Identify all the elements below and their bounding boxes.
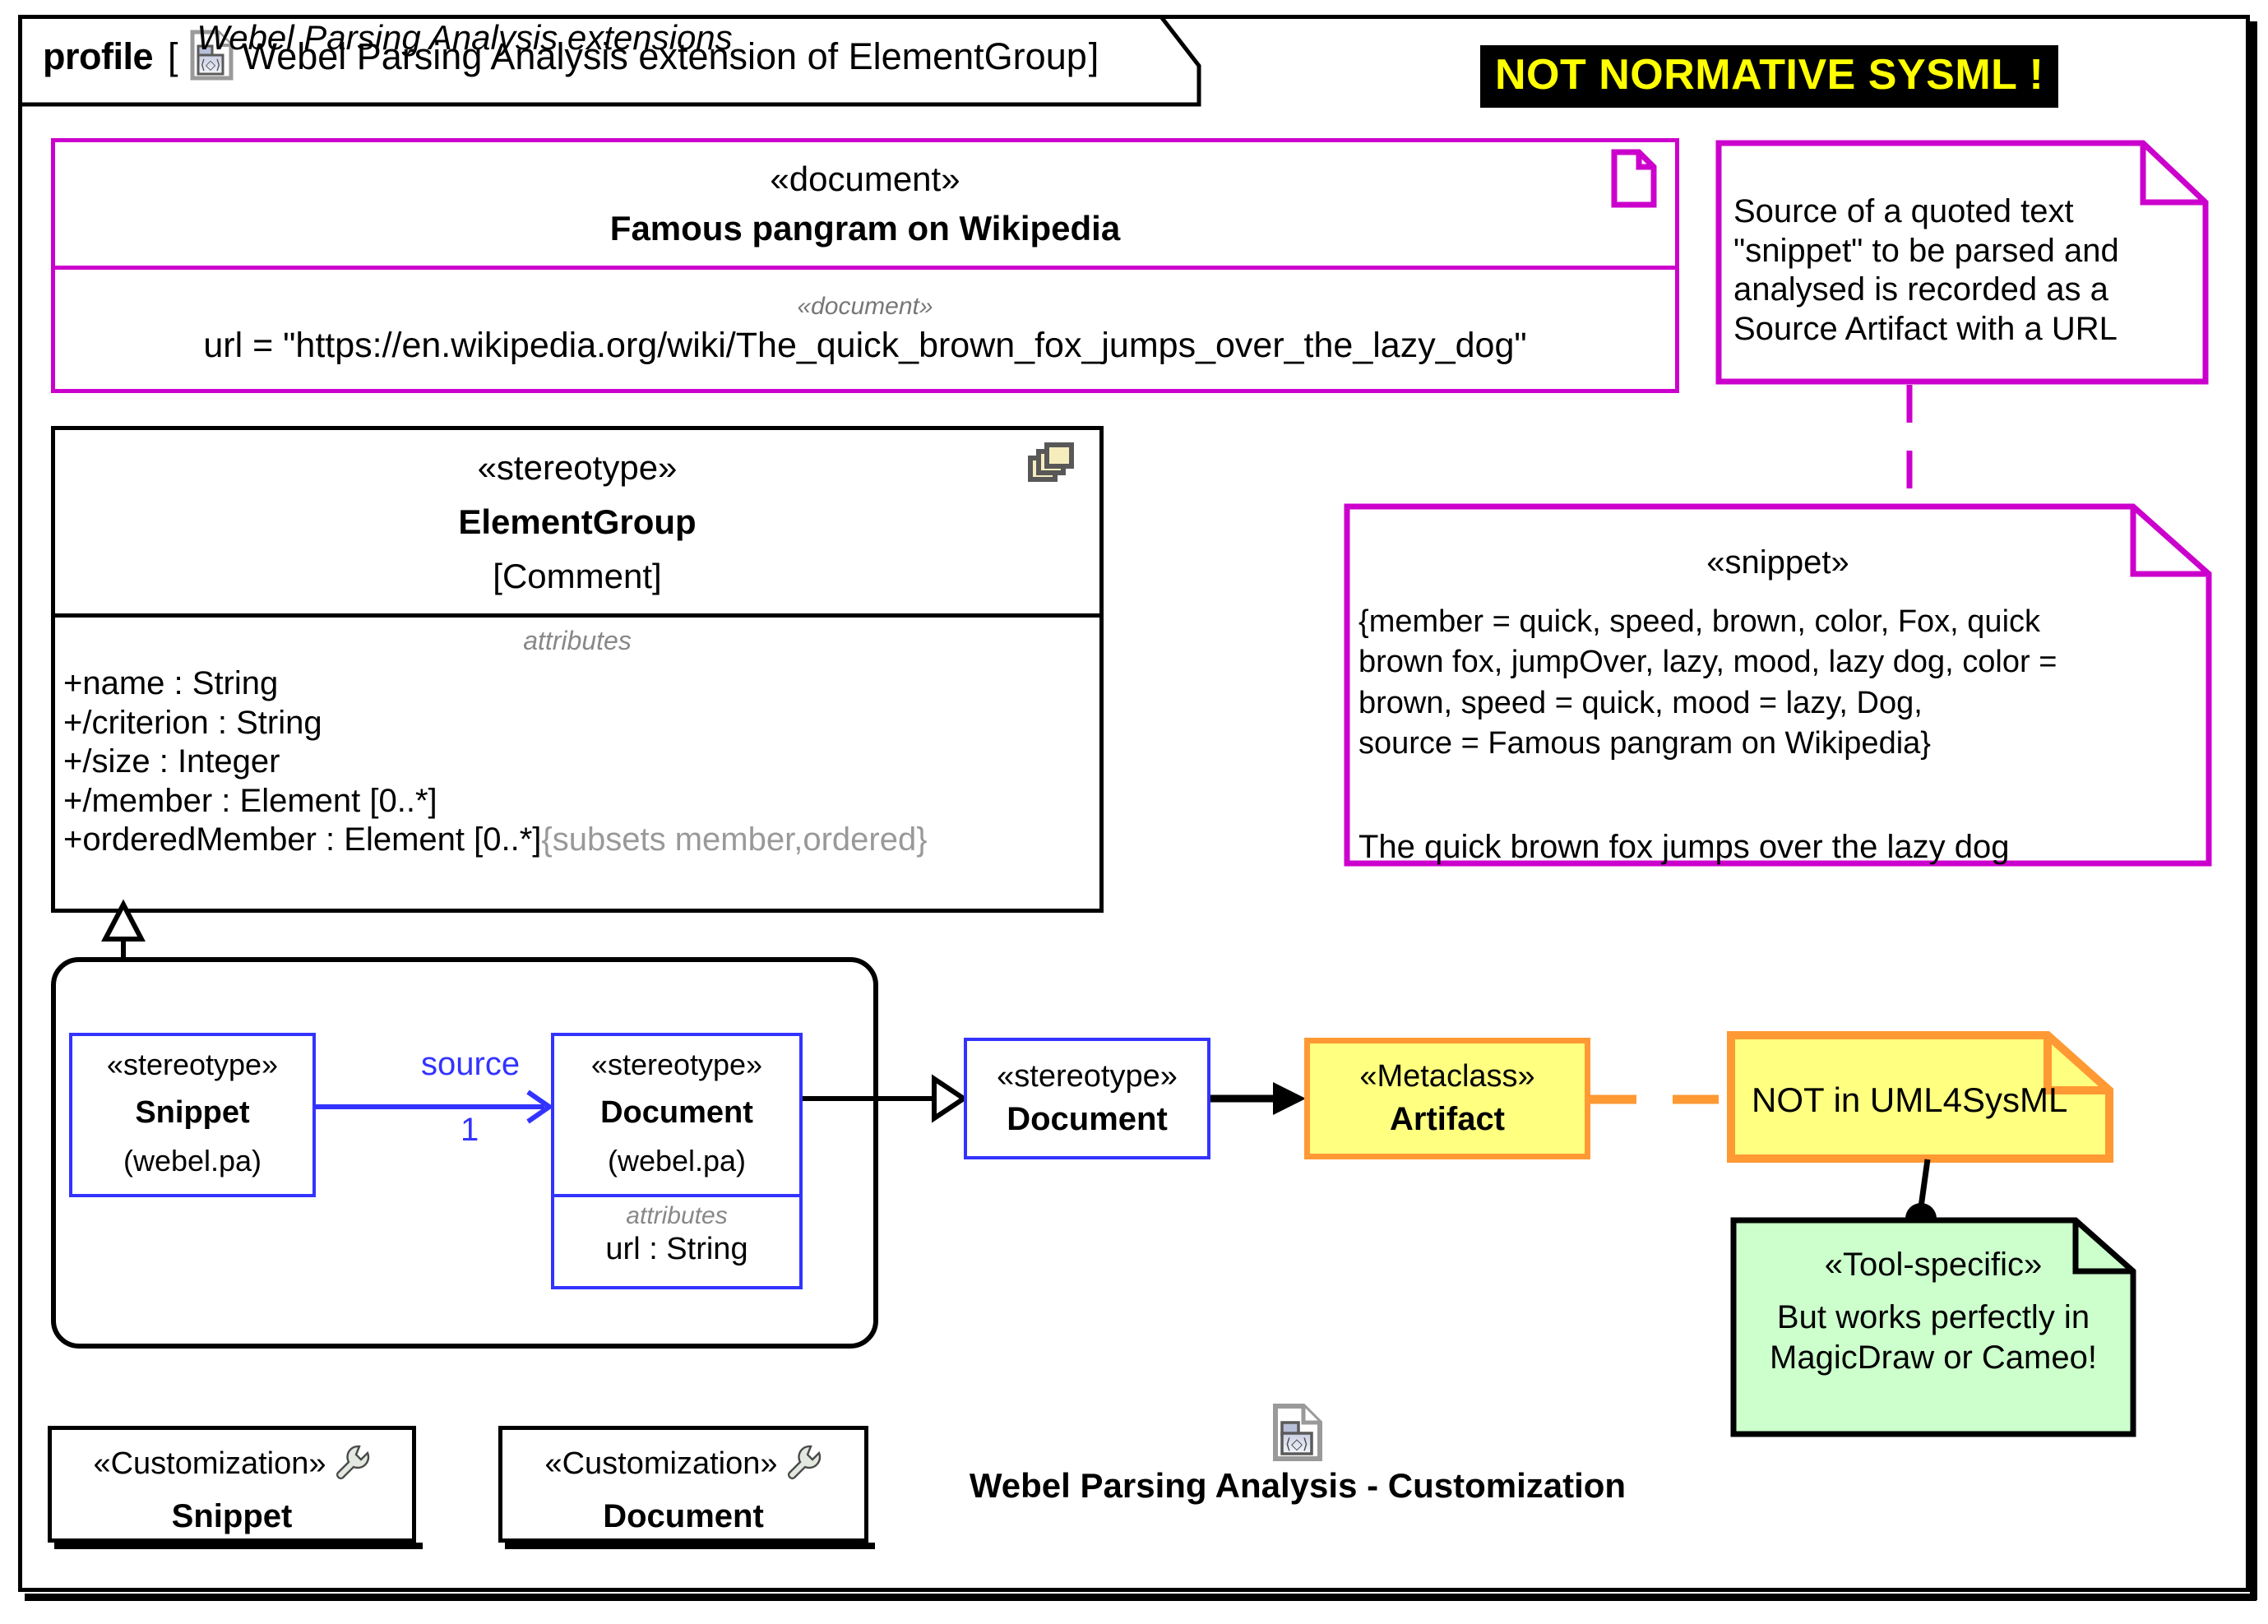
wrench-icon	[333, 1443, 371, 1485]
extension-arrow-artifact	[1210, 1079, 1308, 1118]
stereotype-document-plain[interactable]: «stereotype» Document	[964, 1038, 1210, 1159]
note-source-line-1: Source of a quoted text	[1733, 192, 2194, 232]
note-snippet-pangram: The quick brown fox jumps over the lazy …	[1358, 829, 2189, 866]
customization-snippet-header: «Customization»	[52, 1443, 412, 1485]
document-classifier-compartment: «document» url = "https://en.wikipedia.o…	[55, 270, 1675, 389]
document-url-attribute: url : String	[554, 1232, 799, 1267]
note-source-text: Source of a quoted text "snippet" to be …	[1733, 192, 2194, 349]
note-not-in-uml4sysml: NOT in UML4SysML	[1727, 1031, 2113, 1163]
note-snippet-line-1: {member = quick, speed, brown, color, Fo…	[1358, 602, 2189, 642]
snippet-package: (webel.pa)	[72, 1144, 312, 1178]
customization-document-header: «Customization»	[502, 1443, 864, 1485]
document-classifier[interactable]: «document» Famous pangram on Wikipedia «…	[51, 138, 1679, 393]
note-not-text: NOT in UML4SysML	[1752, 1080, 2067, 1120]
profile-file-icon: ⟨◇⟩	[919, 1403, 1676, 1466]
stereotype-document-webelpa[interactable]: «stereotype» Document (webel.pa)	[551, 1033, 803, 1197]
attribute-row: +/member : Element [0..*]	[63, 782, 1099, 821]
note-snippet-stereotype: «snippet»	[1344, 544, 2212, 581]
customization-snippet-stereotype: «Customization»	[93, 1446, 326, 1482]
note-tool-body: But works perfectly in MagicDraw or Came…	[1740, 1298, 2127, 1378]
bottom-customization-label: ⟨◇⟩ Webel Parsing Analysis - Customizati…	[919, 1403, 1676, 1506]
element-group-header: «stereotype» ElementGroup [Comment]	[55, 430, 1099, 618]
note-source-line-2: "snippet" to be parsed and	[1733, 232, 2194, 271]
customization-snippet-name: Snippet	[52, 1498, 412, 1535]
note-anchor-connector	[1905, 385, 1914, 516]
note-tool-line-2: MagicDraw or Cameo!	[1740, 1338, 2127, 1378]
note-tool-stereotype: «Tool-specific»	[1730, 1247, 2136, 1284]
artifact-stereotype-label: «Metaclass»	[1359, 1059, 1534, 1094]
customization-document-name: Document	[502, 1498, 864, 1535]
note-tool-line-1: But works perfectly in	[1740, 1298, 2127, 1338]
document-url-value: url = "https://en.wikipedia.org/wiki/The…	[203, 326, 1526, 366]
note-source-line-3: analysed is recorded as a	[1733, 271, 2194, 310]
document-attributes-section-label: attributes	[554, 1202, 799, 1230]
snippet-name: Snippet	[72, 1095, 312, 1131]
attribute-text: +/member : Element [0..*]	[63, 783, 437, 819]
note-snippet-line-4: source = Famous pangram on Wikipedia}	[1358, 724, 2189, 764]
svg-text:⟨◇⟩: ⟨◇⟩	[200, 58, 220, 72]
element-group-metaclass: [Comment]	[493, 557, 661, 596]
attribute-row: +name : String	[63, 664, 1099, 704]
document-plain-name: Document	[1007, 1101, 1168, 1138]
frame-bracket-close: ]	[1089, 35, 1099, 78]
extension-arrow-document	[803, 1074, 967, 1123]
document-webelpa-name: Document	[554, 1095, 799, 1131]
note-source-line-4: Source Artifact with a URL	[1733, 310, 2194, 349]
note-source-artifact: Source of a quoted text "snippet" to be …	[1715, 140, 2209, 385]
customization-document[interactable]: «Customization» Document	[498, 1426, 868, 1543]
note-snippet-body: {member = quick, speed, brown, color, Fo…	[1358, 602, 2189, 765]
element-group-attributes-compartment: attributes +name : String +/criterion : …	[55, 618, 1099, 860]
document-compartment-stereotype: «document»	[797, 293, 933, 321]
customization-snippet[interactable]: «Customization» Snippet	[48, 1426, 416, 1543]
not-normative-banner: NOT NORMATIVE SYSML !	[1480, 45, 2058, 108]
frame-shadow-right	[2250, 21, 2257, 1600]
artifact-name: Artifact	[1390, 1101, 1505, 1138]
document-webelpa-stereotype-label: «stereotype»	[554, 1048, 799, 1082]
customization-snippet-shadow	[54, 1543, 423, 1549]
element-group-name: ElementGroup	[458, 502, 696, 542]
svg-text:⟨◇⟩: ⟨◇⟩	[1285, 1436, 1308, 1452]
note-snippet-instance: «snippet» {member = quick, speed, brown,…	[1344, 503, 2212, 867]
element-group-stereotype-label: «stereotype»	[478, 448, 678, 488]
association-source-label: source	[421, 1046, 520, 1083]
snippet-stereotype-label: «stereotype»	[72, 1048, 312, 1082]
bottom-customization-text: Webel Parsing Analysis - Customization	[970, 1466, 1626, 1505]
document-webelpa-package: (webel.pa)	[554, 1144, 799, 1178]
metaclass-artifact[interactable]: «Metaclass» Artifact	[1304, 1038, 1590, 1159]
association-source-multiplicity: 1	[461, 1112, 479, 1149]
customization-document-stereotype: «Customization»	[544, 1446, 777, 1482]
frame-shadow	[25, 1594, 2256, 1601]
note-snippet-line-3: brown, speed = quick, mood = lazy, Dog,	[1358, 683, 2189, 724]
attribute-text: +/size : Integer	[63, 743, 280, 780]
stereotype-snippet[interactable]: «stereotype» Snippet (webel.pa)	[69, 1033, 316, 1197]
document-webelpa-attributes-compartment: attributes url : String	[551, 1197, 803, 1289]
attribute-constraint: {subsets member,ordered}	[541, 821, 927, 858]
attributes-list: +name : String +/criterion : String +/si…	[55, 664, 1099, 860]
customization-document-shadow	[505, 1543, 875, 1549]
attribute-text: +/criterion : String	[63, 705, 322, 741]
stacked-notes-icon	[1027, 442, 1078, 493]
attribute-row: +/criterion : String	[63, 704, 1099, 743]
attributes-section-label: attributes	[55, 626, 1099, 656]
attribute-row: +/size : Integer	[63, 743, 1099, 782]
document-plain-stereotype-label: «stereotype»	[997, 1059, 1178, 1094]
attribute-row: +orderedMember : Element [0..*]{subsets …	[63, 821, 1099, 860]
wrench-icon	[785, 1443, 822, 1485]
attribute-text: +name : String	[63, 665, 278, 701]
attribute-text: +orderedMember : Element [0..*]	[63, 821, 541, 858]
document-page-icon	[1611, 149, 1657, 212]
note-anchor-artifact	[1590, 1087, 1730, 1112]
note-snippet-line-2: brown fox, jumpOver, lazy, mood, lazy do…	[1358, 642, 2189, 682]
document-name: Famous pangram on Wikipedia	[610, 209, 1120, 248]
diagram-canvas: profile [ ⟨◇⟩ Webel Parsing Analysis	[0, 0, 2268, 1624]
association-source-arrow	[316, 1090, 556, 1123]
note-tool-specific: «Tool-specific» But works perfectly in M…	[1730, 1217, 2136, 1437]
banner-text: NOT NORMATIVE SYSML !	[1495, 51, 2044, 99]
document-stereotype-label: «document»	[770, 160, 960, 199]
package-title: Webel Parsing Analysis extensions	[51, 18, 878, 58]
element-group-stereotype[interactable]: «stereotype» ElementGroup [Comment] attr…	[51, 426, 1104, 913]
document-classifier-header: «document» Famous pangram on Wikipedia	[55, 142, 1675, 270]
